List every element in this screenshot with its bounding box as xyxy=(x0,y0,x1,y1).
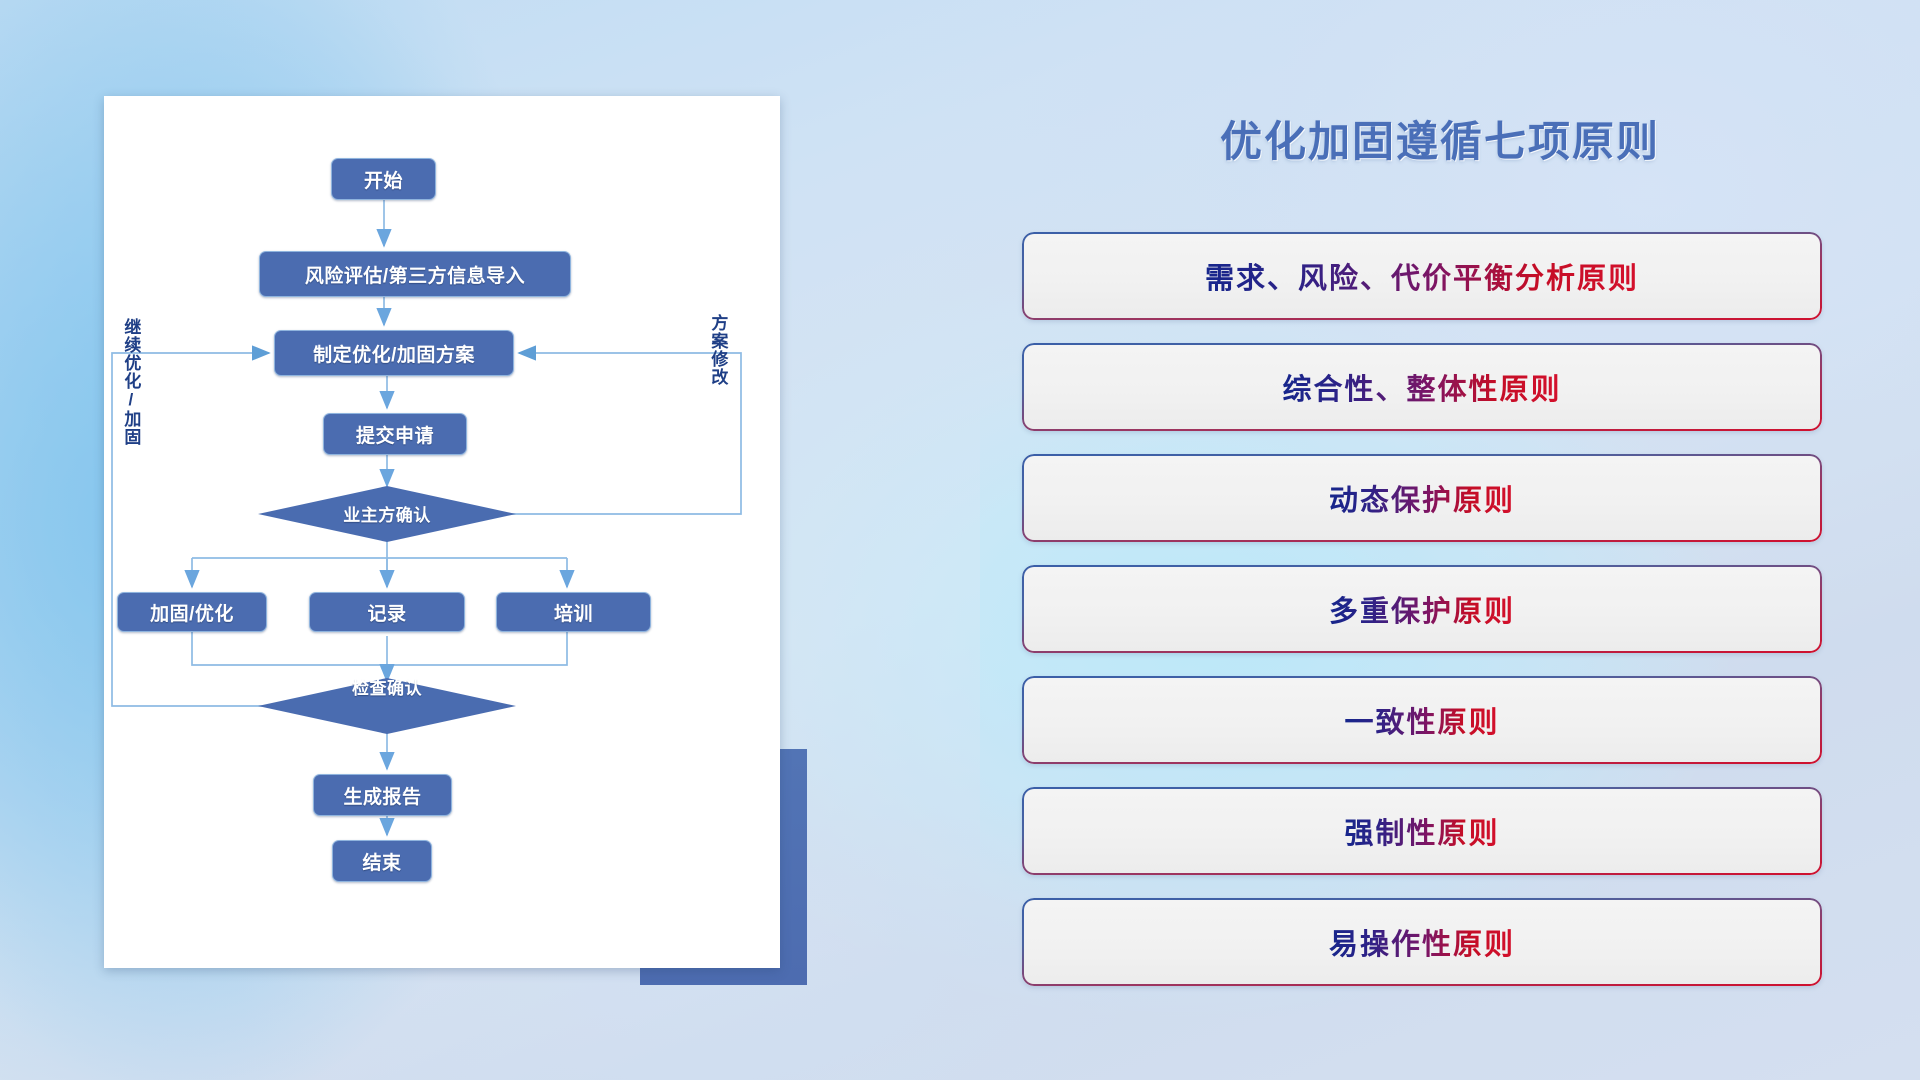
flow-node-end[interactable]: 结束 xyxy=(332,840,432,882)
principle-card[interactable]: 动态保护原则 xyxy=(1022,454,1822,542)
principle-card[interactable]: 易操作性原则 xyxy=(1022,898,1822,986)
flow-node-make-plan[interactable]: 制定优化/加固方案 xyxy=(274,330,514,376)
principle-label: 强制性原则 xyxy=(1344,810,1499,852)
flow-node-submit-application[interactable]: 提交申请 xyxy=(323,413,467,455)
flow-node-record[interactable]: 记录 xyxy=(309,592,465,632)
principle-card[interactable]: 强制性原则 xyxy=(1022,787,1822,875)
principle-label: 多重保护原则 xyxy=(1329,588,1515,630)
slide-canvas: 开始 风险评估/第三方信息导入 制定优化/加固方案 提交申请 加固/优化 记录 … xyxy=(0,0,1920,1080)
flow-node-generate-report[interactable]: 生成报告 xyxy=(313,774,452,816)
flow-node-training[interactable]: 培训 xyxy=(496,592,651,632)
flow-edge-label-plan-revision: 方案修改 xyxy=(708,314,726,434)
principle-label: 需求、风险、代价平衡分析原则 xyxy=(1205,255,1639,297)
principle-card[interactable]: 需求、风险、代价平衡分析原则 xyxy=(1022,232,1822,320)
flow-node-reinforce-optimize[interactable]: 加固/优化 xyxy=(117,592,267,632)
principle-card[interactable]: 一致性原则 xyxy=(1022,676,1822,764)
principle-label: 动态保护原则 xyxy=(1329,477,1515,519)
principle-card[interactable]: 多重保护原则 xyxy=(1022,565,1822,653)
flow-decision-label-owner-confirm: 业主方确认 xyxy=(282,493,492,533)
principle-label: 易操作性原则 xyxy=(1329,921,1515,963)
flow-node-start[interactable]: 开始 xyxy=(331,158,436,200)
flow-edge-label-continue-optimize: 继续优化/加固 xyxy=(121,318,139,468)
principle-card[interactable]: 综合性、整体性原则 xyxy=(1022,343,1822,431)
principle-label: 综合性、整体性原则 xyxy=(1282,366,1561,408)
principles-list: 需求、风险、代价平衡分析原则 综合性、整体性原则 动态保护原则 多重保护原则 一… xyxy=(1022,232,1822,1009)
right-panel-title: 优化加固遵循七项原则 xyxy=(1020,108,1860,169)
flow-node-risk-assessment[interactable]: 风险评估/第三方信息导入 xyxy=(259,251,571,297)
principle-label: 一致性原则 xyxy=(1344,699,1499,741)
flow-decision-label-check-confirm: 检查确认 xyxy=(282,666,492,706)
flowchart-card: 开始 风险评估/第三方信息导入 制定优化/加固方案 提交申请 加固/优化 记录 … xyxy=(104,96,780,968)
